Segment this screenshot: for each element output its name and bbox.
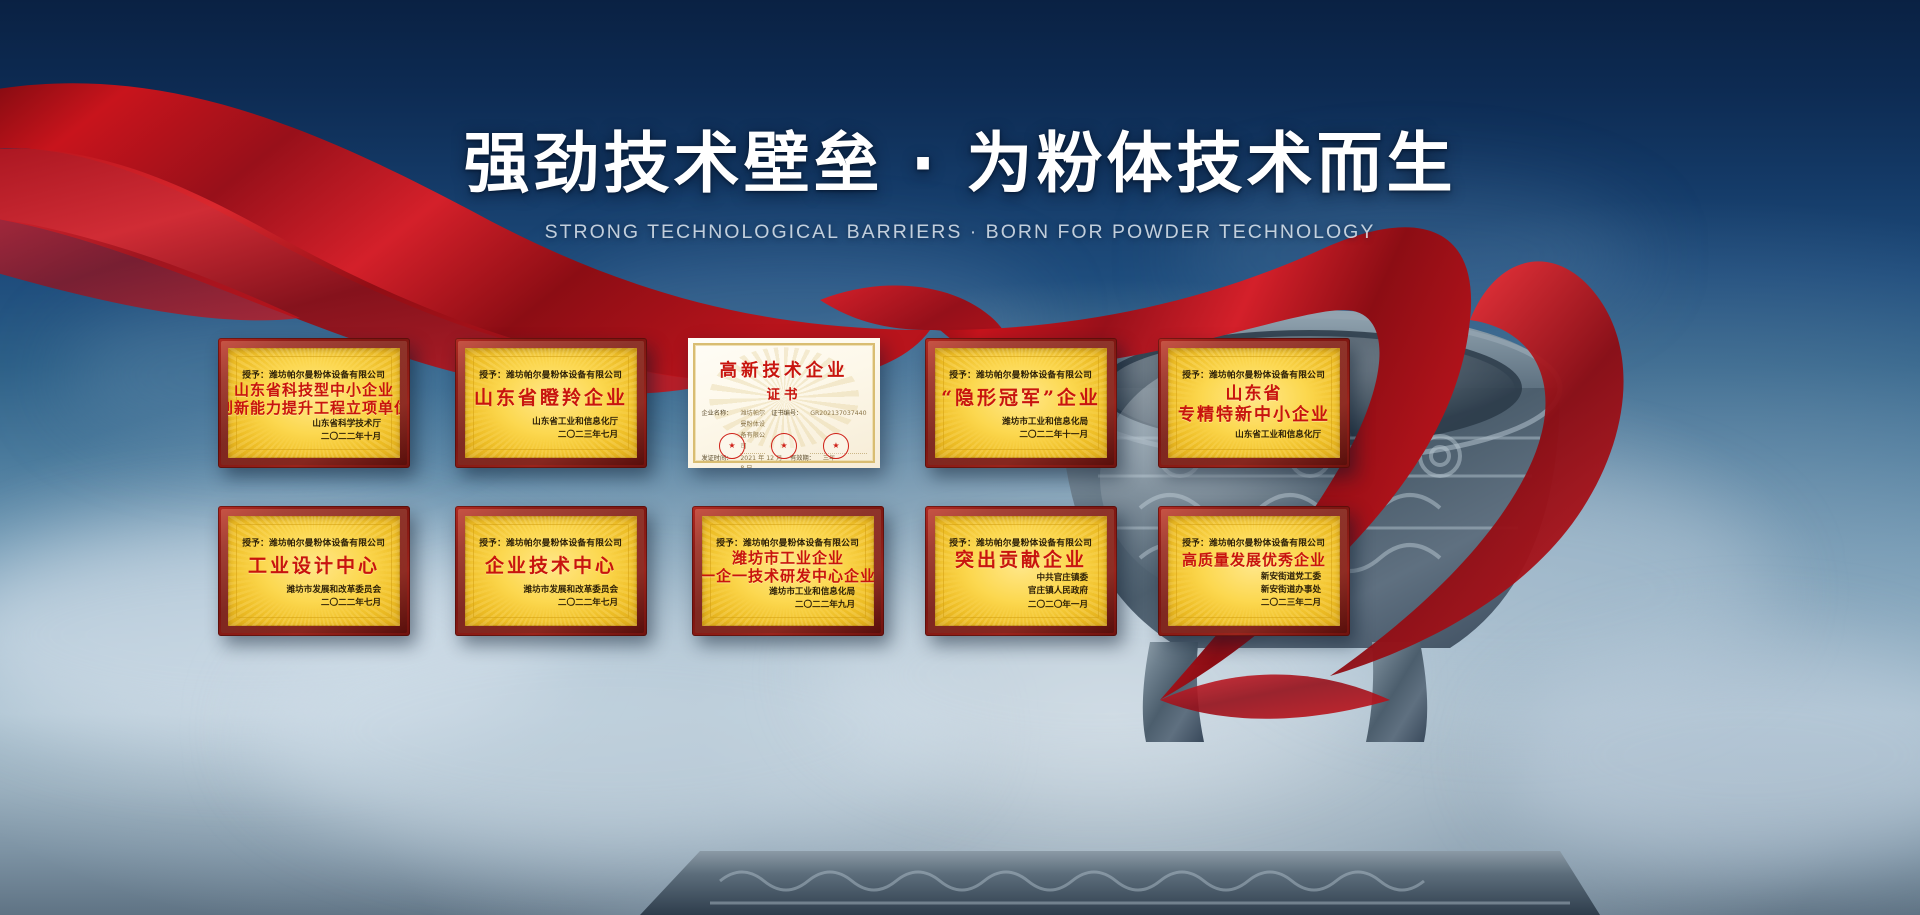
award-title: 突出贡献企业 xyxy=(935,549,1107,572)
page-subtitle: STRONG TECHNOLOGICAL BARRIERS · BORN FOR… xyxy=(0,221,1920,244)
award-cell: 授予：潍坊帕尔曼粉体设备有限公司 突出贡献企业 中共官庄镇委官庄镇人民政府 二〇… xyxy=(925,506,1117,636)
page-title: 强劲技术壁垒 · 为粉体技术而生 xyxy=(0,128,1920,201)
award-title: “隐形冠军”企业 xyxy=(935,381,1107,416)
award-cell: 授予：潍坊帕尔曼粉体设备有限公司 “隐形冠军”企业 潍坊市工业和信息化局 二〇二… xyxy=(925,338,1117,468)
award-issuer-date: 山东省工业和信息化厅 二〇二三年七月 xyxy=(465,416,637,443)
award-recipient: 授予：潍坊帕尔曼粉体设备有限公司 xyxy=(1183,535,1326,548)
award-recipient: 授予：潍坊帕尔曼粉体设备有限公司 xyxy=(480,535,623,548)
award-plaque-dengling[interactable]: 授予：潍坊帕尔曼粉体设备有限公司 山东省瞪羚企业 山东省工业和信息化厅 二〇二三… xyxy=(455,338,647,468)
award-cell: 授予：潍坊帕尔曼粉体设备有限公司 山东省科技型中小企业 创新能力提升工程立项单位… xyxy=(218,338,410,468)
award-title: 潍坊市工业企业 一企一技术研发中心企业 xyxy=(702,549,874,586)
award-recipient: 授予：潍坊帕尔曼粉体设备有限公司 xyxy=(243,535,386,548)
award-plaque-yinxing-guanjun[interactable]: 授予：潍坊帕尔曼粉体设备有限公司 “隐形冠军”企业 潍坊市工业和信息化局 二〇二… xyxy=(925,338,1117,468)
award-issuer-date: 山东省工业和信息化厅 xyxy=(1168,429,1340,442)
award-issuer-date: 中共官庄镇委官庄镇人民政府 二〇二〇年一月 xyxy=(935,572,1107,612)
award-plaque-zhuanjing-texin[interactable]: 授予：潍坊帕尔曼粉体设备有限公司 山东省 专精特新中小企业 山东省工业和信息化厅 xyxy=(1158,338,1350,468)
award-plaque-gongye-sheji[interactable]: 授予：潍坊帕尔曼粉体设备有限公司 工业设计中心 潍坊市发展和改革委员会 二〇二二… xyxy=(218,506,410,636)
official-seal-icon: ★ xyxy=(719,433,745,459)
stone-plinth xyxy=(0,823,1920,915)
award-issuer-date: 潍坊市发展和改革委员会 二〇二二年七月 xyxy=(228,584,400,611)
award-title: 工业设计中心 xyxy=(228,549,400,584)
award-title: 企业技术中心 xyxy=(465,549,637,584)
certificate-cell: 高新技术企业 证书 企业名称：潍坊帕尔曼粉体设备有限公司 证书编号：GR2021… xyxy=(688,338,880,468)
award-title: 山东省瞪羚企业 xyxy=(465,381,637,416)
certificate-seals: ★ ★ ★ xyxy=(688,433,880,459)
award-plaque-gaozhiliang-fazhan[interactable]: 授予：潍坊帕尔曼粉体设备有限公司 高质量发展优秀企业 新安街道党工委新安街道办事… xyxy=(1158,506,1350,636)
award-recipient: 授予：潍坊帕尔曼粉体设备有限公司 xyxy=(950,367,1093,380)
award-cell: 授予：潍坊帕尔曼粉体设备有限公司 工业设计中心 潍坊市发展和改革委员会 二〇二二… xyxy=(218,506,410,636)
award-recipient: 授予：潍坊帕尔曼粉体设备有限公司 xyxy=(950,535,1093,548)
award-cell: 授予：潍坊帕尔曼粉体设备有限公司 山东省 专精特新中小企业 山东省工业和信息化厅 xyxy=(1158,338,1350,468)
award-recipient: 授予：潍坊帕尔曼粉体设备有限公司 xyxy=(717,535,860,548)
award-issuer-date: 潍坊市工业和信息化局 二〇二二年九月 xyxy=(702,586,874,613)
award-issuer-date: 潍坊市工业和信息化局 二〇二二年十一月 xyxy=(935,416,1107,443)
award-title: 山东省 专精特新中小企业 xyxy=(1168,381,1340,429)
headline-block: 强劲技术壁垒 · 为粉体技术而生 STRONG TECHNOLOGICAL BA… xyxy=(0,128,1920,244)
high-tech-enterprise-certificate[interactable]: 高新技术企业 证书 企业名称：潍坊帕尔曼粉体设备有限公司 证书编号：GR2021… xyxy=(688,338,880,468)
award-issuer-date: 潍坊市发展和改革委员会 二〇二二年七月 xyxy=(465,584,637,611)
award-recipient: 授予：潍坊帕尔曼粉体设备有限公司 xyxy=(1183,367,1326,380)
official-seal-icon: ★ xyxy=(823,433,849,459)
award-cell: 授予：潍坊帕尔曼粉体设备有限公司 山东省瞪羚企业 山东省工业和信息化厅 二〇二三… xyxy=(455,338,647,468)
award-plaque-tuchu-gongxian[interactable]: 授予：潍坊帕尔曼粉体设备有限公司 突出贡献企业 中共官庄镇委官庄镇人民政府 二〇… xyxy=(925,506,1117,636)
banner-stage: 强劲技术壁垒 · 为粉体技术而生 STRONG TECHNOLOGICAL BA… xyxy=(0,0,1920,915)
award-recipient: 授予：潍坊帕尔曼粉体设备有限公司 xyxy=(480,367,623,380)
award-recipient: 授予：潍坊帕尔曼粉体设备有限公司 xyxy=(243,367,386,380)
award-issuer-date: 新安街道党工委新安街道办事处 二〇二三年二月 xyxy=(1168,571,1340,611)
official-seal-icon: ★ xyxy=(771,433,797,459)
award-cell: 授予：潍坊帕尔曼粉体设备有限公司 高质量发展优秀企业 新安街道党工委新安街道办事… xyxy=(1158,506,1350,636)
award-plaque-keji-zhongxiao[interactable]: 授予：潍坊帕尔曼粉体设备有限公司 山东省科技型中小企业 创新能力提升工程立项单位… xyxy=(218,338,410,468)
award-issuer-date: 山东省科学技术厅 二〇二二年十月 xyxy=(228,418,400,445)
award-title: 山东省科技型中小企业 创新能力提升工程立项单位 xyxy=(228,381,400,418)
certificate-title: 高新技术企业 xyxy=(720,357,849,382)
award-cell: 授予：潍坊帕尔曼粉体设备有限公司 企业技术中心 潍坊市发展和改革委员会 二〇二二… xyxy=(455,506,647,636)
award-plaque-qiye-jishu-zhongxin[interactable]: 授予：潍坊帕尔曼粉体设备有限公司 企业技术中心 潍坊市发展和改革委员会 二〇二二… xyxy=(455,506,647,636)
award-title: 高质量发展优秀企业 xyxy=(1168,549,1340,571)
awards-grid: 授予：潍坊帕尔曼粉体设备有限公司 山东省科技型中小企业 创新能力提升工程立项单位… xyxy=(0,334,1920,654)
certificate-subtitle: 证书 xyxy=(767,383,802,403)
award-cell: 授予：潍坊帕尔曼粉体设备有限公司 潍坊市工业企业 一企一技术研发中心企业 潍坊市… xyxy=(692,506,884,636)
award-plaque-yiqi-yijishu[interactable]: 授予：潍坊帕尔曼粉体设备有限公司 潍坊市工业企业 一企一技术研发中心企业 潍坊市… xyxy=(692,506,884,636)
